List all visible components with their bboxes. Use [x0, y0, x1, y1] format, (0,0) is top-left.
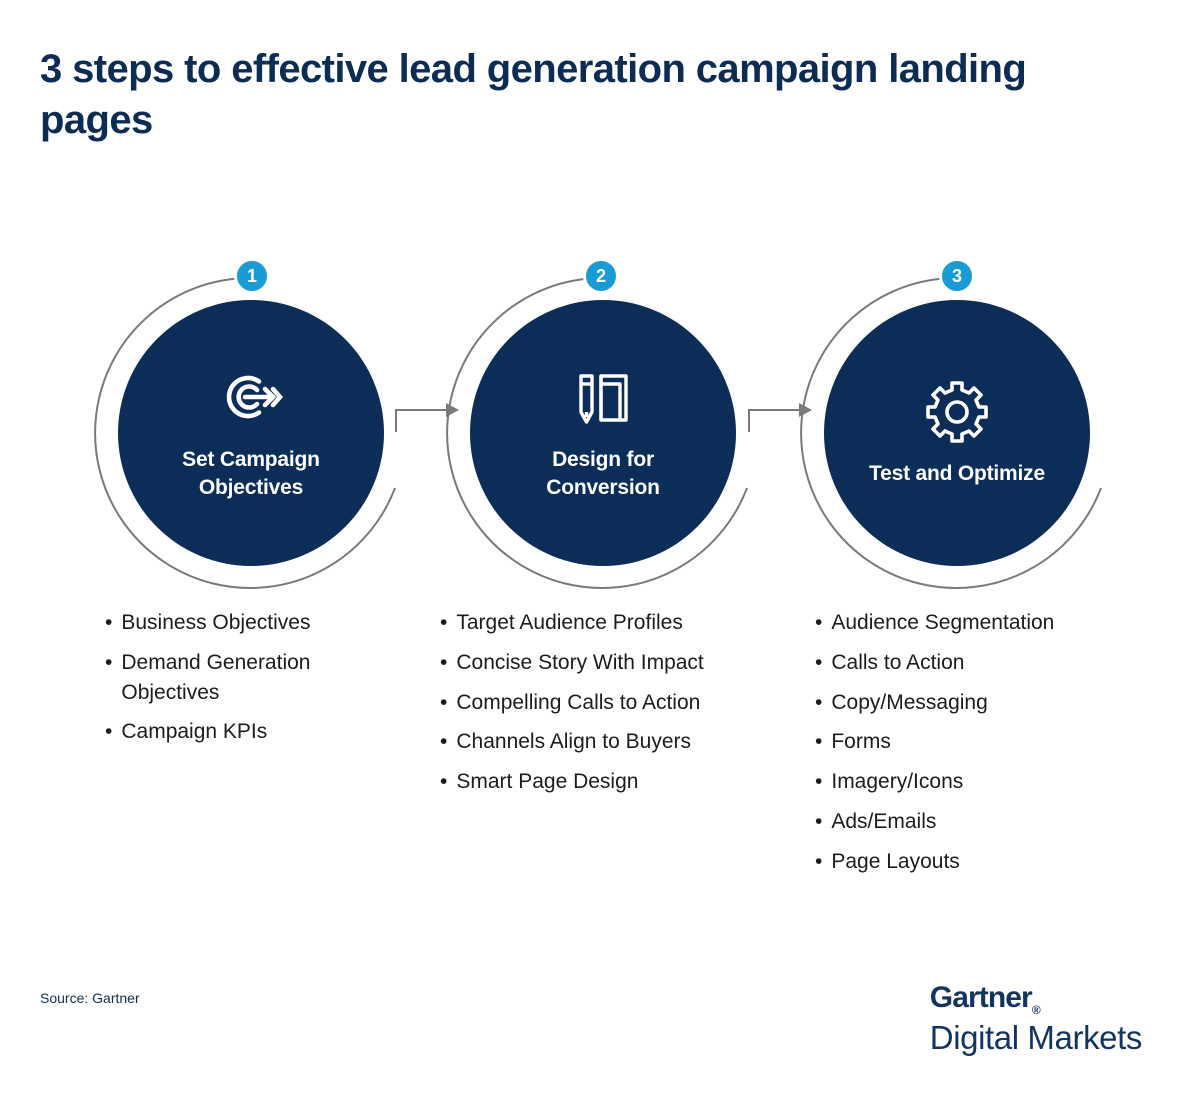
bullet-marker: •	[815, 807, 822, 837]
list-item: • Channels Align to Buyers	[440, 727, 780, 757]
list-item-label: Ads/Emails	[831, 807, 1135, 837]
list-item: • Compelling Calls to Action	[440, 688, 780, 718]
list-item-label: Imagery/Icons	[831, 767, 1135, 797]
step-badge-3: 3	[939, 258, 975, 294]
logo-sub-name: Digital Markets	[930, 1019, 1142, 1057]
bullet-column-1: • Business Objectives • Demand Generatio…	[105, 608, 395, 757]
list-item: • Smart Page Design	[440, 767, 780, 797]
list-item-label: Demand Generation Objectives	[121, 648, 395, 708]
bullet-marker: •	[440, 608, 447, 638]
bullet-marker: •	[815, 688, 822, 718]
source-attribution: Source: Gartner	[40, 990, 140, 1006]
bullet-marker: •	[105, 608, 112, 638]
infographic-page: 3 steps to effective lead generation cam…	[0, 0, 1200, 1100]
list-item-label: Forms	[831, 727, 1135, 757]
list-item: • Page Layouts	[815, 847, 1135, 877]
step-node-3[interactable]: Test and Optimize	[824, 300, 1090, 566]
list-item: • Forms	[815, 727, 1135, 757]
list-item: • Calls to Action	[815, 648, 1135, 678]
registered-trademark-icon: ®	[1032, 1003, 1040, 1017]
bullet-marker: •	[440, 648, 447, 678]
bullet-marker: •	[440, 767, 447, 797]
page-title: 3 steps to effective lead generation cam…	[40, 44, 1130, 146]
list-item: • Copy/Messaging	[815, 688, 1135, 718]
bullet-marker: •	[815, 608, 822, 638]
gartner-digital-markets-logo: Gartner® Digital Markets	[930, 982, 1142, 1057]
list-item: • Campaign KPIs	[105, 717, 395, 747]
steps-diagram: Set Campaign Objectives 1	[0, 240, 1200, 610]
gear-icon	[924, 378, 990, 444]
list-item-label: Campaign KPIs	[121, 717, 395, 747]
list-item: • Imagery/Icons	[815, 767, 1135, 797]
bullet-marker: •	[815, 847, 822, 877]
list-item: • Concise Story With Impact	[440, 648, 780, 678]
list-item-label: Calls to Action	[831, 648, 1135, 678]
step-badge-2: 2	[583, 258, 619, 294]
list-item: • Demand Generation Objectives	[105, 648, 395, 708]
list-item-label: Target Audience Profiles	[456, 608, 780, 638]
bullet-marker: •	[440, 688, 447, 718]
list-item-label: Audience Segmentation	[831, 608, 1135, 638]
step-badge-1: 1	[234, 258, 270, 294]
bullet-marker: •	[105, 717, 112, 747]
list-item-label: Business Objectives	[121, 608, 395, 638]
list-item: • Ads/Emails	[815, 807, 1135, 837]
bullet-marker: •	[815, 727, 822, 757]
list-item-label: Channels Align to Buyers	[456, 727, 780, 757]
bullet-marker: •	[815, 648, 822, 678]
step-node-1-label: Set Campaign Objectives	[146, 446, 356, 502]
target-arrow-icon	[218, 364, 284, 430]
connector-arrow-1-to-2	[396, 403, 459, 432]
list-item-label: Copy/Messaging	[831, 688, 1135, 718]
list-item-label: Page Layouts	[831, 847, 1135, 877]
step-node-2[interactable]: Design for Conversion	[470, 300, 736, 566]
list-item: • Audience Segmentation	[815, 608, 1135, 638]
step-node-3-label: Test and Optimize	[869, 460, 1045, 488]
bullet-marker: •	[815, 767, 822, 797]
list-item: • Business Objectives	[105, 608, 395, 638]
logo-brand-text: Gartner	[930, 981, 1032, 1014]
bullet-column-3: • Audience Segmentation • Calls to Actio…	[815, 608, 1135, 887]
step-node-2-label: Design for Conversion	[498, 446, 708, 502]
bullet-marker: •	[440, 727, 447, 757]
list-item-label: Compelling Calls to Action	[456, 688, 780, 718]
list-item-label: Concise Story With Impact	[456, 648, 780, 678]
list-item: • Target Audience Profiles	[440, 608, 780, 638]
step-node-1[interactable]: Set Campaign Objectives	[118, 300, 384, 566]
logo-brand-name: Gartner®	[930, 982, 1142, 1017]
bullet-column-2: • Target Audience Profiles • Concise Sto…	[440, 608, 780, 807]
pencil-book-icon	[570, 364, 636, 430]
list-item-label: Smart Page Design	[456, 767, 780, 797]
bullet-marker: •	[105, 648, 112, 678]
